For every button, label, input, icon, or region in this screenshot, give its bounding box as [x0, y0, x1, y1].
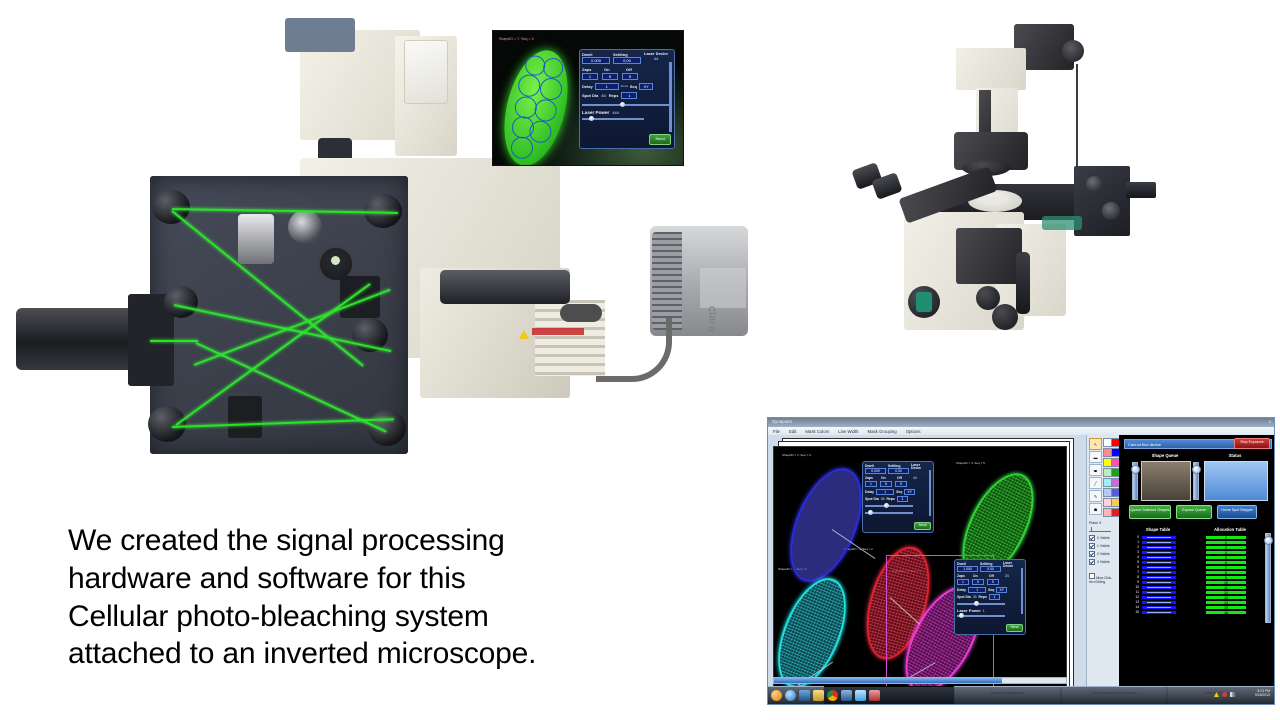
checkbox-icon[interactable] [1089, 543, 1095, 549]
presentation-slide: clara ShapeID = 7, Seq [0, 0, 1280, 720]
seq-label-1: Seq [896, 490, 902, 494]
dwell-field[interactable]: 0.009 [582, 57, 610, 64]
stop-exposure-button[interactable]: Stop Exposure [1234, 438, 1270, 449]
off-label: Off [626, 67, 644, 72]
drawing-tools: ↖ ▬ ⬬ ╱ ✎ ☗ [1089, 438, 1102, 517]
start-orb-icon[interactable] [771, 690, 782, 701]
seq-field[interactable]: XY [639, 83, 653, 90]
seq-label-2: Seq [988, 588, 994, 592]
off-field[interactable]: 5 [622, 73, 638, 80]
app-titlebar: Dynapoint x [768, 418, 1274, 427]
visible-label-2: 2 Visible [1097, 552, 1110, 556]
laser-control-dialog[interactable]: Dwell 0.009 Settling 0.00 Laser Decim 44… [579, 49, 675, 149]
caption-line-4: attached to an inverted microscope. [68, 635, 668, 673]
optic-mount [164, 286, 198, 318]
home-spot-stepper-button[interactable]: Home Spot Stepper [1217, 505, 1257, 519]
zaps-label: Zaps [582, 67, 600, 72]
laser-power-value: 444 [612, 110, 619, 115]
shape-label-green: ShapeID = 4, Seq = 5 [956, 461, 985, 465]
shape-table-title: Shape Table [1133, 527, 1183, 532]
clock-time: 8:23 PM [1257, 689, 1270, 693]
visible-checkbox-2[interactable]: 2 Visible [1089, 551, 1117, 557]
shape-queue-slider[interactable] [1132, 462, 1138, 500]
mask-canvas[interactable]: ShapeID = 1, Seq = 3 ShapeID = 0, Seq = … [773, 446, 1067, 690]
menu-item-edit[interactable]: Edit [789, 429, 796, 434]
laser-control-dialog-1[interactable]: Dwell 0.009 Settling 0.00 Laser Decim [862, 461, 934, 533]
delay-label-1: Delay [865, 490, 874, 494]
plane-label: Plane 0 [1089, 521, 1117, 525]
settling-field-2[interactable]: 0.00 [980, 566, 1001, 572]
app-title: Dynapoint [772, 419, 792, 424]
tray-network-icon[interactable] [1230, 692, 1236, 697]
reps-label: Reps [609, 93, 619, 98]
cell-preview-inset: ShapeID = 7, Seq = 4 Dwell 0.009 Settlin… [492, 30, 684, 166]
tray-warning-icon[interactable] [1214, 692, 1219, 697]
plane-slider[interactable] [1089, 527, 1111, 532]
allocation-table[interactable]: 12345678910111213141516 [1205, 535, 1247, 615]
laser-power-slider[interactable] [582, 118, 644, 120]
send-button[interactable]: Send [649, 134, 671, 145]
paint-icon[interactable] [855, 690, 866, 701]
laser-power-slider-2[interactable] [957, 615, 1005, 617]
menu-item-line-width[interactable]: Line Width [838, 429, 858, 434]
color-swatches[interactable] [1103, 438, 1118, 517]
delay-label-2: Delay [957, 588, 966, 592]
spot-dia-slider[interactable] [582, 104, 672, 106]
tool-column: ↖ ▬ ⬬ ╱ ✎ ☗ [1086, 435, 1119, 686]
close-icon[interactable]: x [1269, 419, 1271, 424]
laser-power-slider-1[interactable] [865, 512, 913, 514]
spot-dia-slider-2[interactable] [957, 603, 1005, 605]
chrome-icon[interactable] [827, 690, 838, 701]
send-button-2[interactable]: Send [1006, 624, 1023, 632]
on-label: On [604, 67, 622, 72]
canvas-area: ShapeID = 1, Seq = 3 ShapeID = 0, Seq = … [768, 435, 1086, 686]
visible-checkbox-1[interactable]: 1 Visible [1089, 543, 1117, 549]
off-field-2[interactable]: 5 [987, 579, 999, 585]
seq-field-1[interactable]: XY [904, 489, 915, 495]
allocation-table-row[interactable]: 16 [1205, 610, 1247, 615]
allow-clickthru-row[interactable]: Allow Click-thru Editing [1089, 573, 1117, 584]
caption-line-1: We created the signal processing [68, 522, 668, 560]
spot-dia-value-2: 33 [973, 595, 977, 599]
media-player-icon[interactable] [799, 690, 810, 701]
table-scroll-slider[interactable] [1265, 533, 1271, 623]
zaps-field[interactable]: 1 [582, 73, 598, 80]
shape-table[interactable] [1141, 535, 1177, 615]
menu-item-mask-colors[interactable]: Mask Colors [805, 429, 829, 434]
seq-field-2[interactable]: XY [996, 587, 1007, 593]
caption-line-2: hardware and software for this [68, 560, 668, 598]
galvo-mirror [288, 210, 322, 244]
inverted-microscope-photo [836, 16, 1156, 396]
spot-dia-slider-1[interactable] [865, 505, 913, 507]
delay-label: Delay [582, 84, 593, 89]
off-label-2: Off [989, 574, 1002, 578]
dwell-field-2[interactable]: 1.000 [957, 566, 978, 572]
spot-dia-value: 45 [601, 93, 605, 98]
menu-item-file[interactable]: File [773, 429, 780, 434]
shape-table-row-index: 15 [1131, 610, 1139, 615]
clock-date: 9/18/2013 [1255, 693, 1270, 697]
eyedropper-tool-icon[interactable]: ☗ [1089, 503, 1102, 515]
canvas-horizontal-scrollbar[interactable] [773, 677, 1067, 684]
notepad-icon[interactable] [841, 690, 852, 701]
rectangle-tool-icon[interactable]: ▬ [1089, 451, 1102, 463]
camera-model-label: clara [706, 306, 718, 332]
expose-queue-button[interactable]: Expose Queue [1176, 505, 1212, 519]
laser-power-value-2: 1 [983, 609, 985, 613]
on-label-2: On [973, 574, 986, 578]
shape-queue-title: Shape Queue [1143, 453, 1187, 458]
send-button-1[interactable]: Send [914, 522, 931, 530]
pointer-tool-icon[interactable]: ↖ [1089, 438, 1102, 450]
allocation-table-title: Allocation Table [1201, 527, 1259, 532]
dwell-field-1[interactable]: 0.009 [865, 468, 886, 474]
freehand-tool-icon[interactable]: ✎ [1089, 490, 1102, 502]
spot-dia-value-1: 45 [881, 497, 885, 501]
tray-alert-icon[interactable] [1222, 692, 1227, 697]
explorer-icon[interactable] [813, 690, 824, 701]
visible-label-1: 1 Visible [1097, 544, 1110, 548]
visible-checkbox-3[interactable]: 3 Visible [1089, 559, 1117, 565]
installer-icon[interactable] [869, 690, 880, 701]
on-label-1: On [881, 476, 894, 480]
zaps-label-1: Zaps [865, 476, 878, 480]
spot-dia-label: Spot Dia [582, 93, 598, 98]
delay-field-2[interactable]: 1 [968, 587, 986, 593]
queue-selected-shapes-button[interactable]: Queue Selected Shapes [1129, 505, 1171, 519]
checkbox-icon[interactable] [1089, 535, 1095, 541]
zaps-field-2[interactable]: 1 [957, 579, 969, 585]
decim-vertical-slider[interactable] [669, 62, 672, 132]
visible-checkbox-0[interactable]: 0 Visible [1089, 535, 1117, 541]
decim-slider-2[interactable] [1021, 568, 1023, 614]
seq-label: Seq [630, 84, 637, 89]
menu-item-options[interactable]: Options [906, 429, 921, 434]
laser-decim-value-2: 24 [1005, 574, 1009, 578]
dynapoint-application-screenshot: Dynapoint x File Edit Mask Colors Line W… [767, 417, 1275, 705]
menu-item-mask-grouping[interactable]: Mask Grouping [868, 429, 897, 434]
shape-table-index-column: 0123456789101112131415 [1131, 535, 1139, 615]
reps-field-1[interactable]: 1 [897, 496, 908, 502]
off-field-1[interactable]: 5 [895, 481, 907, 487]
decim-slider-1[interactable] [929, 470, 931, 516]
laser-decim-value: 44 [644, 56, 668, 61]
spot-dia-label-2: Spot Dia [957, 595, 971, 599]
inset-shape-label: ShapeID = 7, Seq = 4 [499, 37, 534, 41]
shape-queue-display[interactable] [1141, 461, 1191, 501]
shape-table-row[interactable] [1141, 610, 1177, 615]
delay-field-1[interactable]: 1 [876, 489, 894, 495]
caption-line-3: Cellular photo-bleaching system [68, 598, 668, 636]
zaps-field-1[interactable]: 1 [865, 481, 877, 487]
reps-field-2[interactable]: 1 [989, 594, 1000, 600]
checkbox-icon[interactable] [1089, 559, 1095, 565]
laser-decim-value-1: 44 [913, 476, 917, 480]
delay-unit: 10 ms [621, 85, 628, 88]
on-field-1[interactable]: 5 [880, 481, 892, 487]
reps-label-1: Reps [887, 497, 895, 501]
control-panel: Cannot find device Stop Exposure Shape Q… [1119, 435, 1274, 686]
spot-dia-label-1: Spot Dia [865, 497, 879, 501]
laser-decim-label-2: Laser Decim [1003, 562, 1022, 569]
reps-label-2: Reps [979, 595, 987, 599]
shape-label-blue: ShapeID = 1, Seq = 3 [782, 453, 811, 457]
status-display[interactable] [1204, 461, 1268, 501]
zaps-label-2: Zaps [957, 574, 970, 578]
off-label-1: Off [897, 476, 910, 480]
visible-label-3: 3 Visible [1097, 560, 1110, 564]
checkbox-icon[interactable] [1089, 573, 1095, 579]
app-workspace: ShapeID = 1, Seq = 3 ShapeID = 0, Seq = … [768, 435, 1274, 686]
checkbox-icon[interactable] [1089, 551, 1095, 557]
line-tool-icon[interactable]: ╱ [1089, 477, 1102, 489]
system-tray[interactable] [1214, 692, 1236, 697]
optic-mount [368, 410, 406, 446]
delay-field[interactable]: 1 [595, 83, 619, 90]
settling-field[interactable]: 0.00 [613, 57, 641, 64]
settling-field-1[interactable]: 0.00 [888, 468, 909, 474]
slide-caption: We created the signal processing hardwar… [68, 522, 668, 673]
laser-decim-label-1: Laser Decim [911, 464, 930, 471]
reps-field[interactable]: 1 [621, 92, 637, 99]
status-title: Status [1218, 453, 1252, 458]
internet-explorer-icon[interactable] [785, 690, 796, 701]
optic-mount [148, 406, 186, 442]
status-slider[interactable] [1193, 462, 1199, 500]
windows-taskbar: 8:23 PM 9/18/2013 [768, 687, 1274, 704]
taskbar-clock[interactable]: 8:23 PM 9/18/2013 [1255, 689, 1270, 698]
on-field-2[interactable]: 5 [972, 579, 984, 585]
galvo-motor [238, 214, 274, 264]
laser-power-label: Laser Power [582, 110, 609, 115]
ellipse-tool-icon[interactable]: ⬬ [1089, 464, 1102, 476]
laser-control-dialog-2[interactable]: Dwell 1.000 Settling 0.00 Laser Decim [954, 559, 1026, 635]
on-field[interactable]: 5 [602, 73, 618, 80]
visible-label-0: 0 Visible [1097, 536, 1110, 540]
